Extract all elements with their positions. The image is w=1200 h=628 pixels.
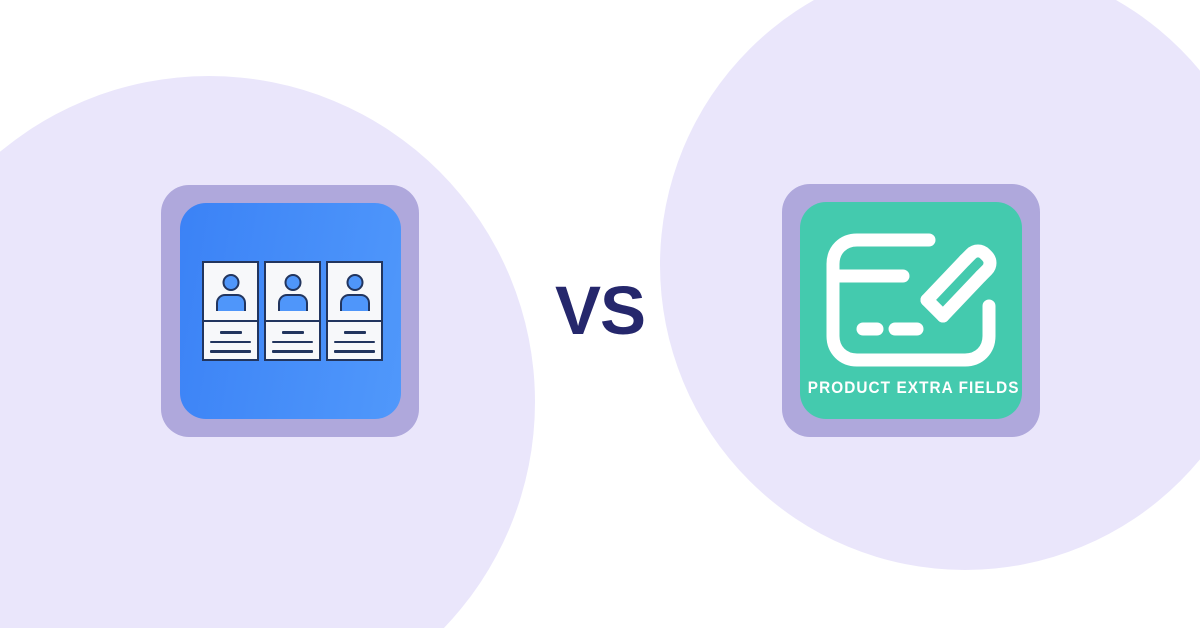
text-line-full bbox=[210, 350, 251, 353]
text-line-full bbox=[334, 350, 375, 353]
right-app-icon-tile: PRODUCT EXTRA FIELDS bbox=[800, 202, 1022, 419]
right-app-icon-frame[interactable]: PRODUCT EXTRA FIELDS bbox=[782, 184, 1040, 437]
text-line-full bbox=[272, 350, 313, 353]
product-extra-fields-caption: PRODUCT EXTRA FIELDS bbox=[808, 379, 1014, 398]
card-with-pencil-icon bbox=[825, 232, 997, 368]
comparison-banner: VS PR bbox=[0, 0, 1200, 628]
